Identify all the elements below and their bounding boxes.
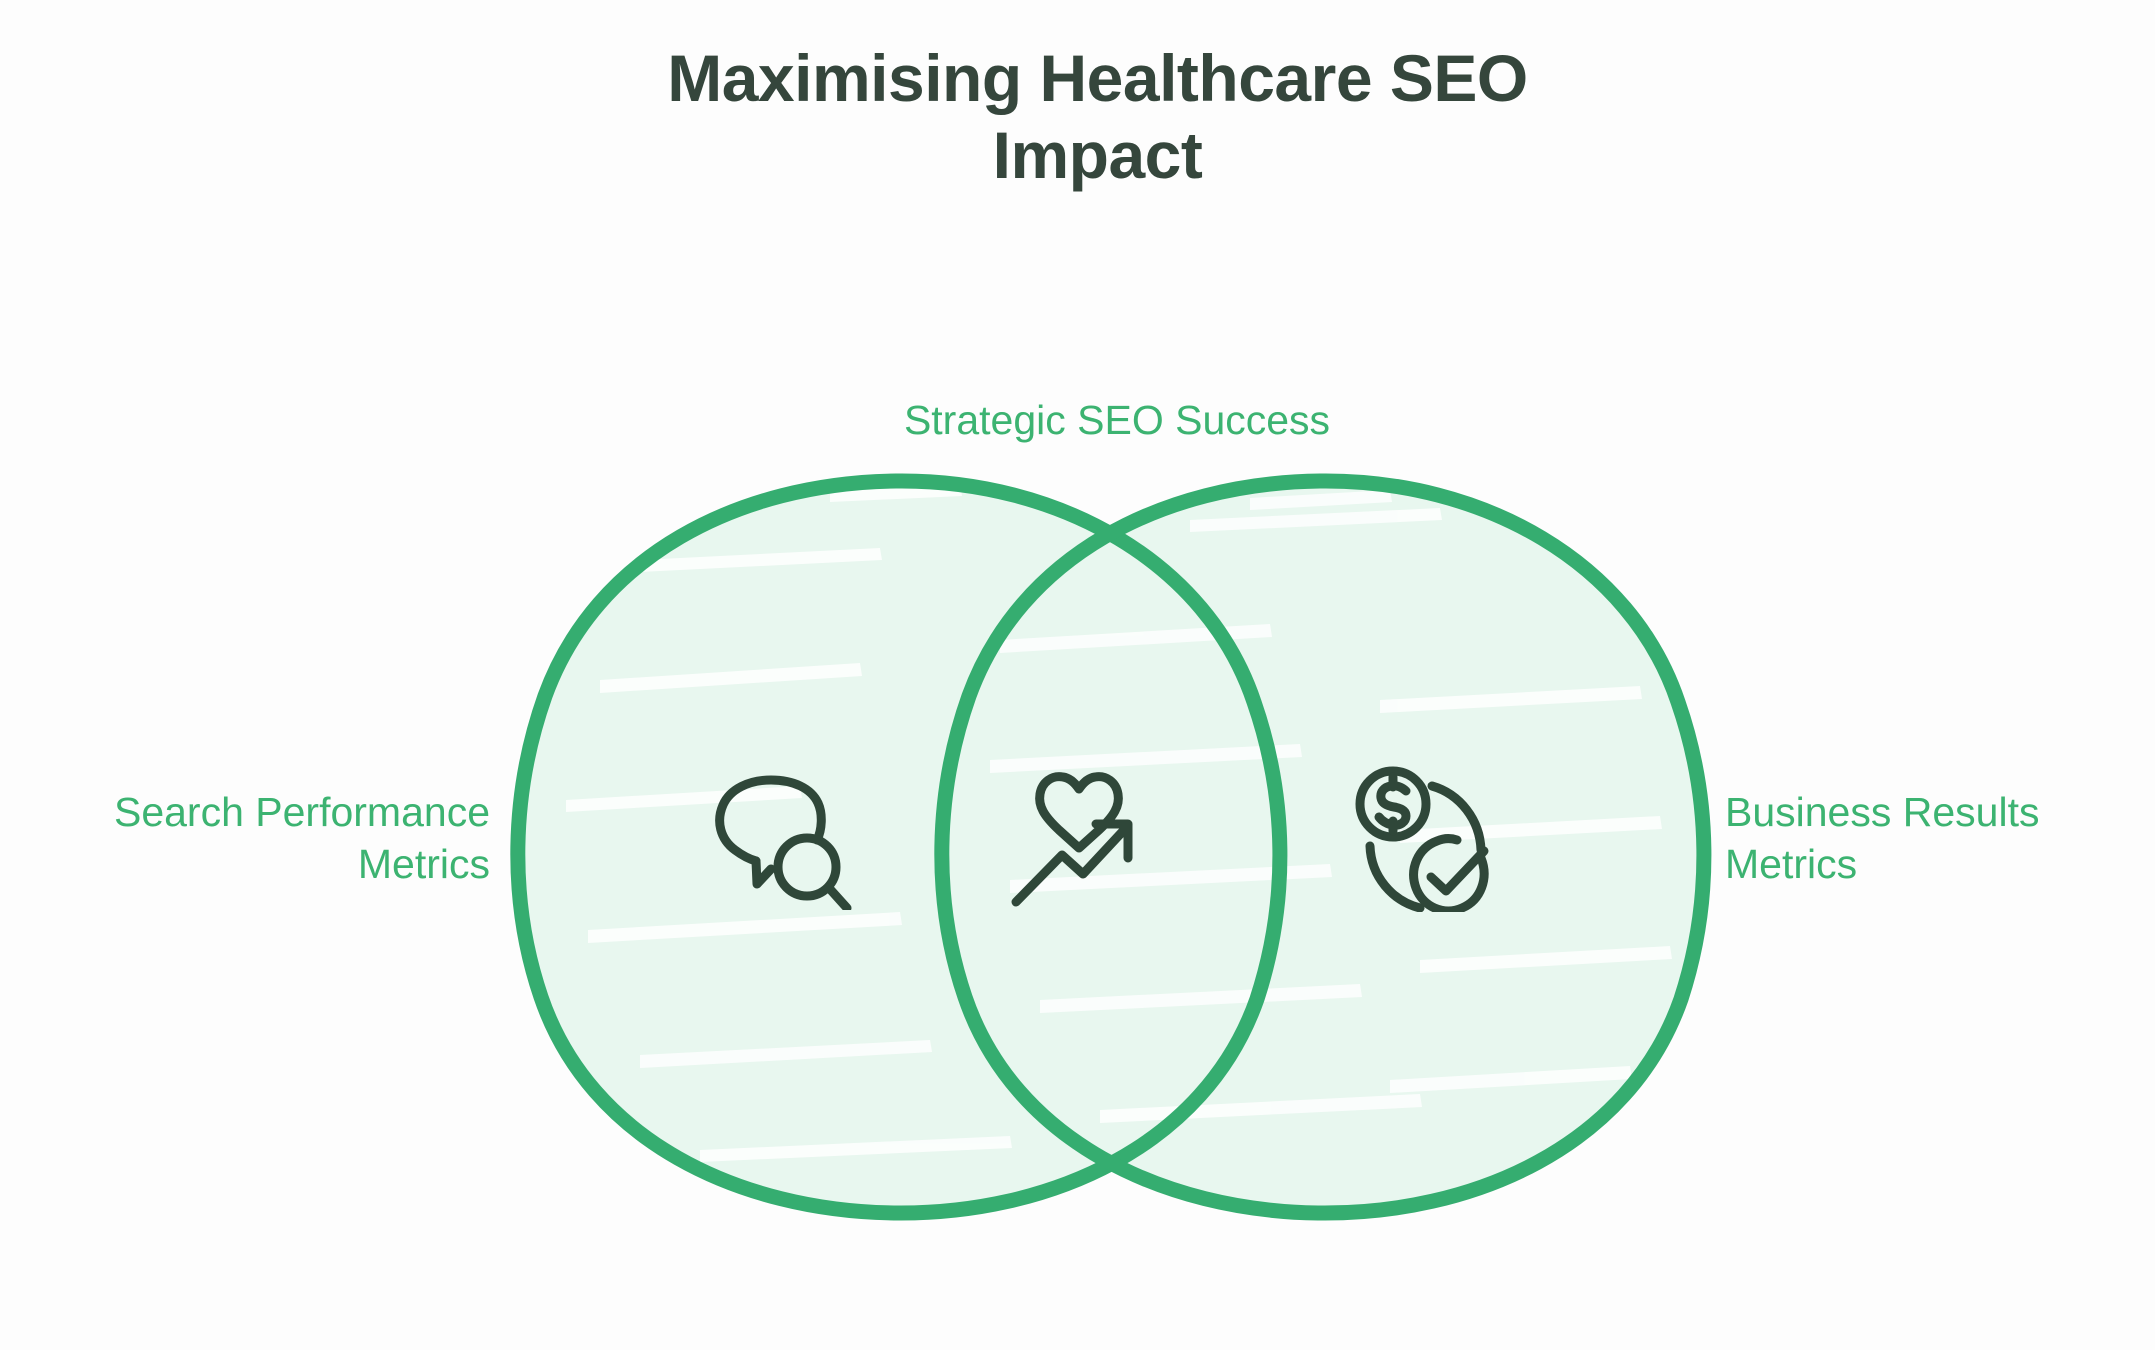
venn-label-right-set: Business Results Metrics (1725, 786, 2145, 891)
venn-label-left-set: Search Performance Metrics (20, 786, 490, 891)
diagram-canvas: Maximising Healthcare SEO Impact (0, 0, 2155, 1350)
chat-search-icon (705, 760, 865, 910)
venn-diagram: Strategic SEO Success Search Performance… (0, 0, 2155, 1350)
heart-trend-icon (1008, 762, 1173, 910)
venn-svg (0, 0, 2155, 1350)
dollar-check-icon (1348, 760, 1513, 912)
venn-label-intersection: Strategic SEO Success (807, 394, 1427, 446)
